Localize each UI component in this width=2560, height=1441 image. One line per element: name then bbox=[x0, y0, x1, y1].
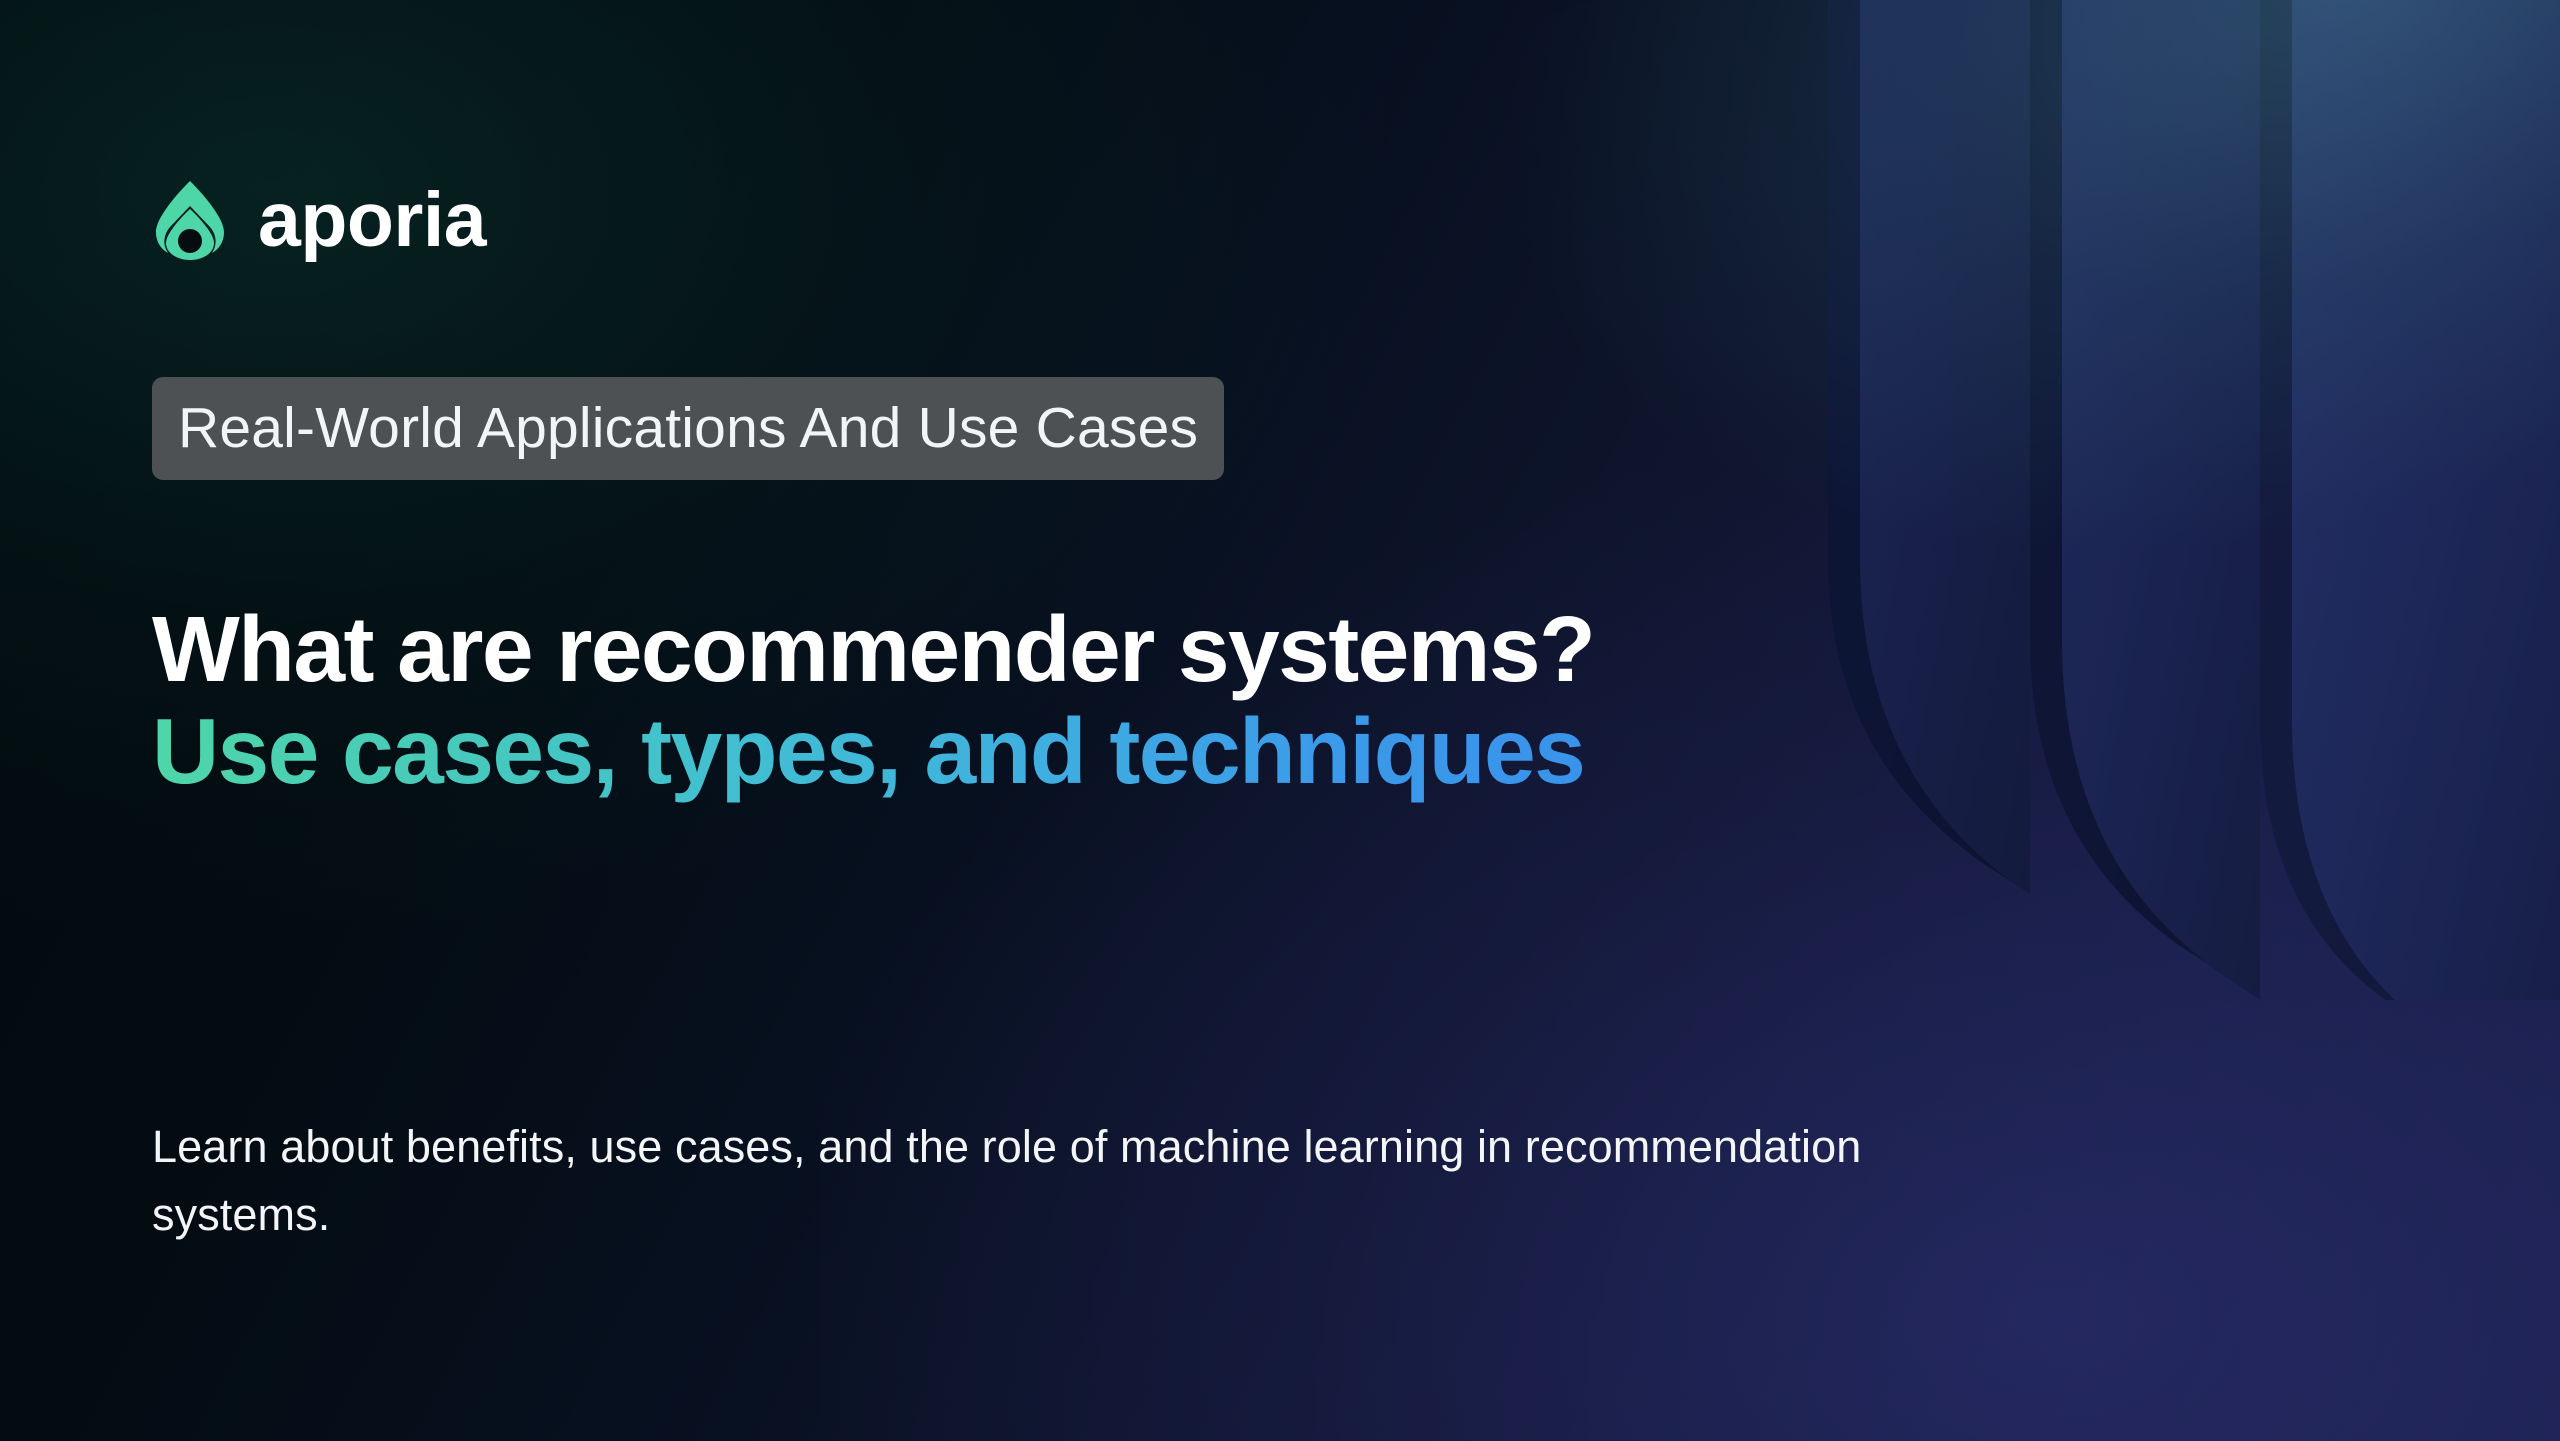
category-badge-label: Real-World Applications And Use Cases bbox=[178, 400, 1198, 457]
hero-content: aporia Real-World Applications And Use C… bbox=[152, 0, 2452, 1441]
brand-logo[interactable]: aporia bbox=[152, 178, 486, 262]
brand-name: aporia bbox=[258, 182, 486, 259]
hero-banner: aporia Real-World Applications And Use C… bbox=[0, 0, 2560, 1441]
category-badge[interactable]: Real-World Applications And Use Cases bbox=[152, 377, 1224, 480]
hero-description: Learn about benefits, use cases, and the… bbox=[152, 1113, 2052, 1250]
aporia-droplet-logo-icon bbox=[152, 178, 228, 262]
headline-secondary: Use cases, types, and techniques bbox=[152, 700, 1584, 802]
headline-primary: What are recommender systems? bbox=[152, 598, 2412, 700]
page-title: What are recommender systems? Use cases,… bbox=[152, 598, 2412, 803]
